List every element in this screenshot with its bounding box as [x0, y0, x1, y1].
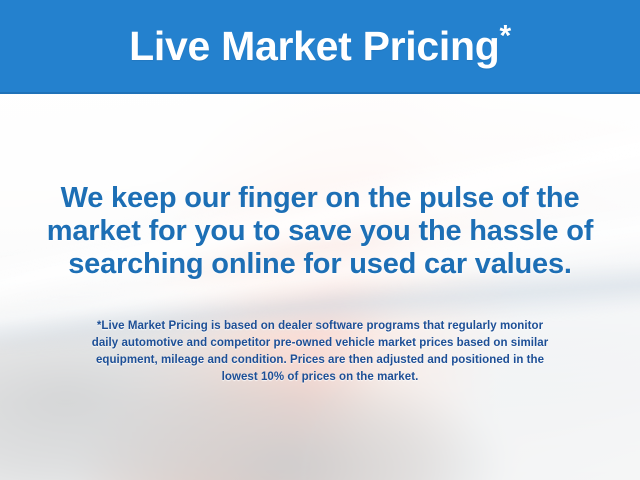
disclaimer-text: *Live Market Pricing is based on dealer …: [20, 318, 620, 386]
page-title-asterisk: *: [499, 19, 510, 52]
page-title: Live Market Pricing*: [129, 26, 511, 67]
page-title-text: Live Market Pricing: [129, 23, 499, 69]
headline: We keep our finger on the pulse of the m…: [0, 182, 640, 281]
disclaimer-line-2: daily automotive and competitor pre-owne…: [20, 335, 620, 352]
disclaimer-line-3: equipment, mileage and condition. Prices…: [20, 352, 620, 369]
disclaimer-line-1: *Live Market Pricing is based on dealer …: [20, 318, 620, 335]
header-banner: Live Market Pricing*: [0, 0, 640, 94]
disclaimer-line-4: lowest 10% of prices on the market.: [20, 369, 620, 386]
headline-line-1: We keep our finger on the pulse of the: [0, 182, 640, 215]
headline-line-2: market for you to save you the hassle of: [0, 215, 640, 248]
headline-line-3: searching online for used car values.: [0, 248, 640, 281]
live-market-pricing-promo: Live Market Pricing* We keep our finger …: [0, 0, 640, 480]
